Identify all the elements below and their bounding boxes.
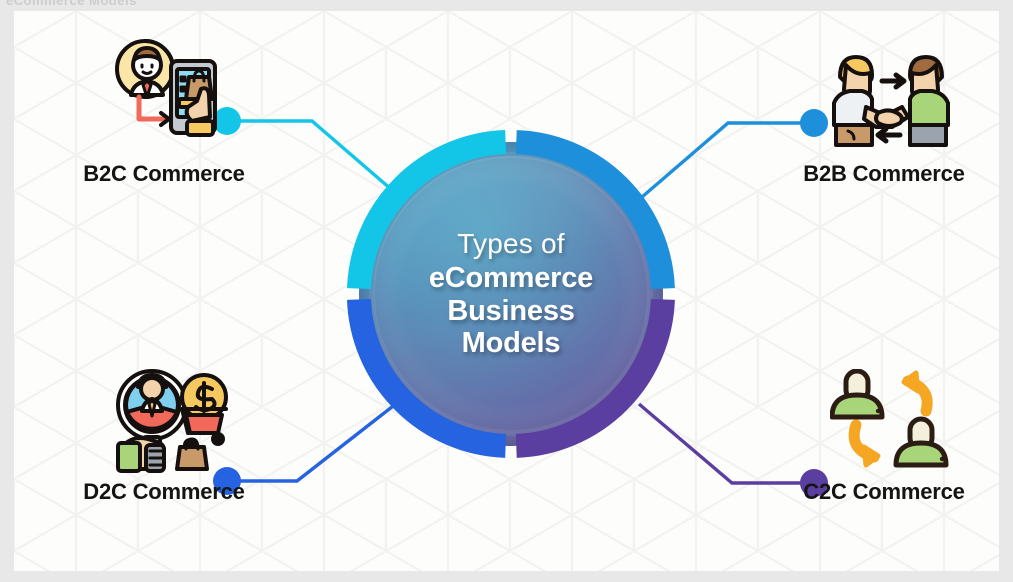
node-b2c[interactable]: B2C Commerce — [30, 33, 290, 187]
infographic-root: eCommerce Models — [0, 0, 1013, 582]
hub-title-line-3: Business — [447, 295, 574, 327]
diagram-canvas: Types of eCommerce Business Models — [14, 11, 999, 571]
center-hub: Types of eCommerce Business Models — [343, 126, 679, 462]
hub-title-line-4: Models — [462, 327, 561, 359]
watermark-text: eCommerce Models — [6, 0, 137, 8]
business-handshake-icon — [744, 33, 999, 153]
node-b2c-label: B2C Commerce — [30, 161, 290, 187]
node-d2c[interactable]: D2C Commerce — [30, 363, 290, 505]
direct-to-consumer-cart-icon — [30, 363, 290, 473]
hub-title-block: Types of eCommerce Business Models — [343, 126, 679, 462]
node-c2c[interactable]: C2C Commerce — [744, 363, 999, 505]
node-d2c-label: D2C Commerce — [30, 479, 290, 505]
node-c2c-label: C2C Commerce — [744, 479, 999, 505]
consumer-to-consumer-exchange-icon — [744, 363, 999, 473]
node-b2b[interactable]: B2B Commerce — [744, 33, 999, 187]
node-b2b-label: B2B Commerce — [744, 161, 999, 187]
watermark: eCommerce Models — [0, 0, 260, 11]
hub-title-line-1: Types of — [457, 228, 564, 259]
customer-mobile-shopping-icon — [30, 33, 290, 153]
hub-title-line-2: eCommerce — [429, 262, 593, 294]
